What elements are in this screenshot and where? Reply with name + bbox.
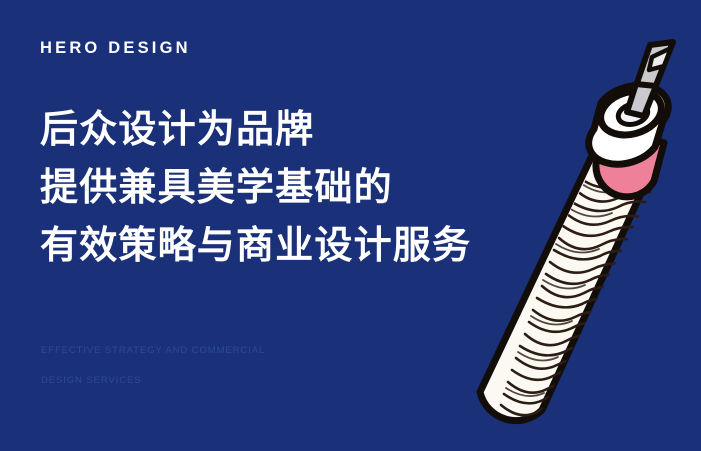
- subtext-line-1: EFFECTIVE STRATEGY AND COMMERCIAL: [41, 336, 265, 366]
- brand-wordmark: HERO DESIGN: [40, 38, 191, 58]
- subtext-line-2: DESIGN SERVICES: [41, 366, 265, 396]
- subtext-block: EFFECTIVE STRATEGY AND COMMERCIAL DESIGN…: [41, 336, 265, 396]
- craft-knife-svg: [430, 0, 701, 451]
- craft-knife-illustration: [430, 0, 701, 451]
- poster-canvas: HERO DESIGN 后众设计为品牌 提供兼具美学基础的 有效策略与商业设计服…: [0, 0, 701, 451]
